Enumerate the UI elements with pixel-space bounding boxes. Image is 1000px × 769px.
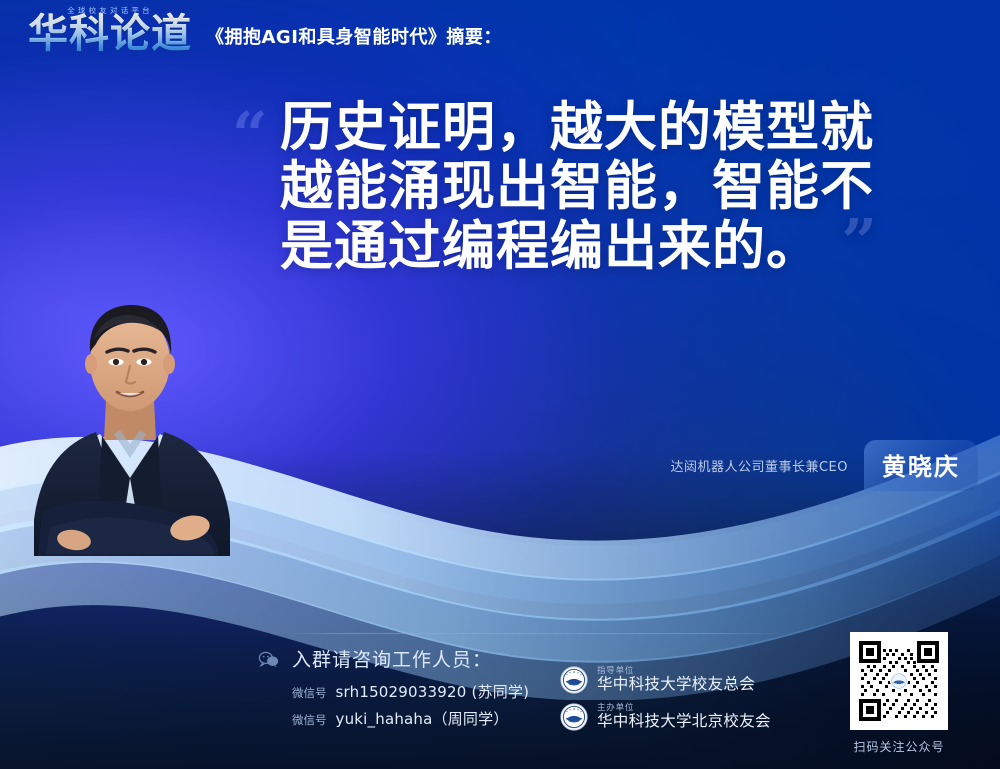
- poster-header: 全球校友对话平台 华科论道 《拥抱AGI和具身智能时代》摘要：: [28, 14, 502, 54]
- university-seal-icon: [560, 666, 588, 694]
- organization-row-1: 指导单位 华中科技大学校友总会: [560, 666, 771, 694]
- speaker-role: 达闼机器人公司董事长兼CEO: [670, 456, 848, 475]
- speaker-portrait: [22, 288, 238, 556]
- contact-value-1: srh15029033920 (苏同学): [336, 681, 530, 702]
- header-subtitle: 《拥抱AGI和具身智能时代》摘要：: [206, 23, 502, 54]
- quote-text: 历史证明，越大的模型就 越能涌现出智能，智能不 是通过编程编出来的。 ”: [280, 98, 952, 276]
- quote-block: “ 历史证明，越大的模型就 越能涌现出智能，智能不 是通过编程编出来的。 ”: [232, 98, 952, 276]
- organization-name-2: 华中科技大学北京校友会: [597, 713, 771, 730]
- contact-value-2: yuki_hahaha（周同学）: [336, 708, 509, 729]
- quote-line-3: 是通过编程编出来的。: [280, 216, 820, 277]
- quote-line-1: 历史证明，越大的模型就: [280, 98, 952, 157]
- logo-tagline: 全球校友对话平台: [67, 5, 153, 16]
- organization-text-2: 主办单位 华中科技大学北京校友会: [597, 704, 771, 731]
- qr-code-icon[interactable]: [850, 632, 948, 730]
- university-seal-icon: [560, 703, 588, 731]
- quote-open-mark: “: [232, 104, 268, 166]
- footer-divider: [285, 633, 785, 634]
- contact-label-1: 微信号: [292, 685, 327, 701]
- qr-caption: 扫码关注公众号: [843, 738, 955, 755]
- organization-name-1: 华中科技大学校友总会: [597, 676, 755, 693]
- speaker-name-badge: 黄晓庆: [864, 440, 978, 491]
- footer-title: 入群请咨询工作人员：: [292, 645, 492, 672]
- organization-row-2: 主办单位 华中科技大学北京校友会: [560, 703, 771, 731]
- logo-wordmark: 华科论道: [28, 11, 192, 57]
- quote-close-mark: ”: [841, 211, 878, 273]
- wechat-icon: [258, 651, 280, 667]
- contact-label-2: 微信号: [292, 712, 327, 728]
- quote-line-3-wrap: 是通过编程编出来的。 ”: [280, 217, 820, 276]
- poster-canvas: 全球校友对话平台 华科论道 《拥抱AGI和具身智能时代》摘要：: [0, 0, 1000, 769]
- organization-list: 指导单位 华中科技大学校友总会 主: [560, 666, 771, 740]
- brand-logo: 全球校友对话平台 华科论道: [28, 14, 192, 54]
- attribution: 达闼机器人公司董事长兼CEO 黄晓庆: [670, 440, 978, 491]
- organization-text-1: 指导单位 华中科技大学校友总会: [597, 667, 755, 694]
- qr-block: 扫码关注公众号: [843, 632, 955, 755]
